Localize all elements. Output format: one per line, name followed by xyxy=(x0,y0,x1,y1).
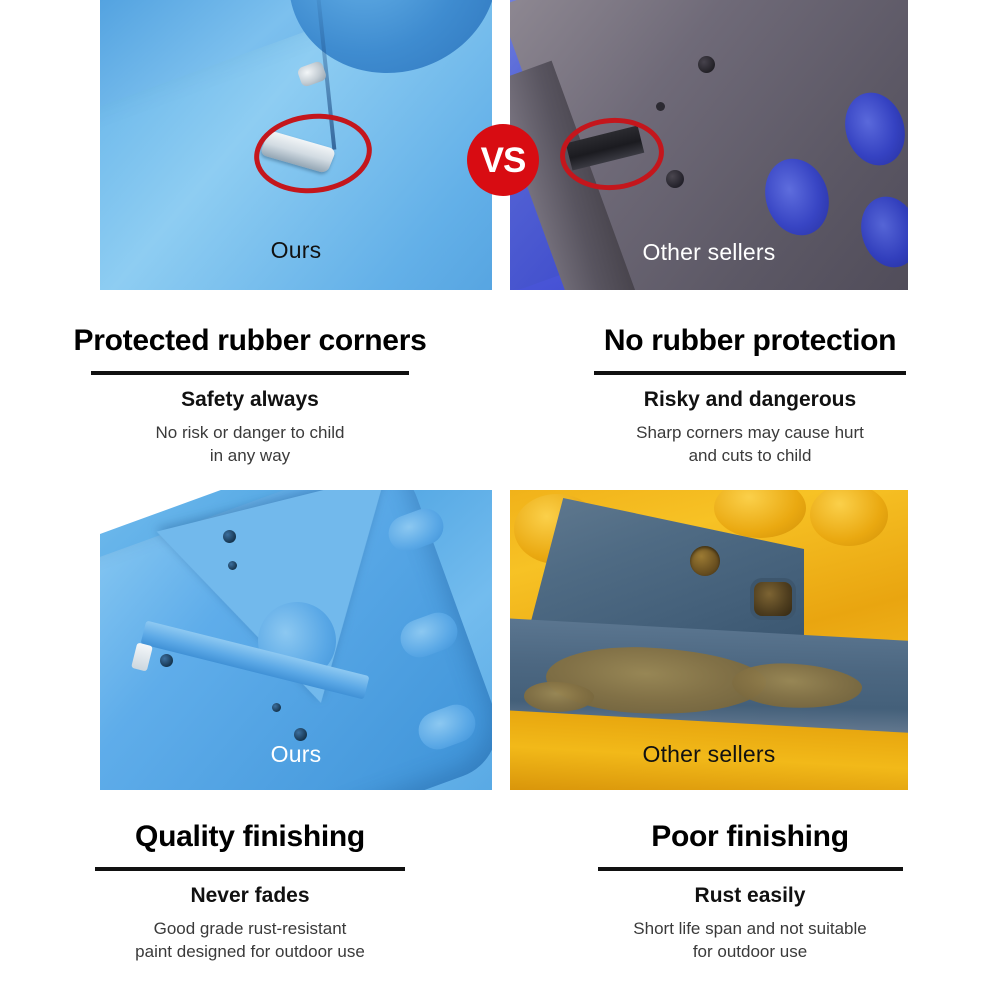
text-row-bottom: Quality finishing Never fades Good grade… xyxy=(0,790,1000,964)
text-row-top: Protected rubber corners Safety always N… xyxy=(0,290,1000,468)
hex-nut xyxy=(754,582,792,616)
headline-ours-top: Protected rubber corners xyxy=(24,324,476,359)
screw-head-d xyxy=(272,703,281,712)
body-line2-other-top: and cuts to child xyxy=(524,444,976,467)
text-col-ours-bottom: Quality finishing Never fades Good grade… xyxy=(0,820,500,964)
body-line1-ours-bottom: Good grade rust-resistant xyxy=(24,917,476,940)
rivet-pin xyxy=(656,102,665,111)
subhead-other-top: Risky and dangerous xyxy=(524,387,976,412)
vs-badge-top: VS xyxy=(467,124,539,196)
divider-rule xyxy=(91,371,409,375)
vs-badge-label: VS xyxy=(481,143,526,178)
headline-other-top: No rubber protection xyxy=(524,324,976,359)
body-line1-ours-top: No risk or danger to child xyxy=(24,421,476,444)
panel-label-other-sellers-top: Other sellers xyxy=(510,239,908,266)
screw-head-e xyxy=(294,728,307,741)
subhead-ours-top: Safety always xyxy=(24,387,476,412)
comparison-infographic: Ours Other sellers VS xyxy=(0,0,1000,1000)
comparison-block-finishing: Ours Other sellers VS xyxy=(0,490,1000,1000)
body-line1-other-top: Sharp corners may cause hurt xyxy=(524,421,976,444)
panel-label-other-sellers-bottom: Other sellers xyxy=(510,741,908,768)
subhead-ours-bottom: Never fades xyxy=(24,883,476,908)
subhead-other-bottom: Rust easily xyxy=(524,883,976,908)
photo-row-bottom: Ours Other sellers VS xyxy=(0,490,1000,790)
screw-head-b xyxy=(228,561,237,570)
headline-other-bottom: Poor finishing xyxy=(524,820,976,855)
screw-head-a xyxy=(223,530,236,543)
photo-ours-quality-finish: Ours xyxy=(100,490,492,790)
text-col-other-top: No rubber protection Risky and dangerous… xyxy=(500,324,1000,468)
bolt-head-a xyxy=(698,56,715,73)
divider-rule xyxy=(594,371,906,375)
headline-ours-bottom: Quality finishing xyxy=(24,820,476,855)
photo-other-poor-finish: Other sellers xyxy=(510,490,908,790)
divider-rule xyxy=(95,867,405,871)
photo-other-sharp-corner: Other sellers xyxy=(510,0,908,290)
bolt-head-b xyxy=(666,170,684,188)
screw-head-c xyxy=(160,654,173,667)
panel-label-ours-bottom: Ours xyxy=(100,741,492,768)
photo-row-top: Ours Other sellers VS xyxy=(0,0,1000,290)
photo-ours-rubber-corner: Ours xyxy=(100,0,492,290)
body-line2-other-bottom: for outdoor use xyxy=(524,940,976,963)
divider-rule xyxy=(598,867,903,871)
body-line1-other-bottom: Short life span and not suitable xyxy=(524,917,976,940)
comparison-block-rubber-corners: Ours Other sellers VS xyxy=(0,0,1000,490)
panel-label-ours-top: Ours xyxy=(100,237,492,264)
bracket-hole xyxy=(690,546,720,576)
body-line2-ours-bottom: paint designed for outdoor use xyxy=(24,940,476,963)
text-col-ours-top: Protected rubber corners Safety always N… xyxy=(0,324,500,468)
body-line2-ours-top: in any way xyxy=(24,444,476,467)
text-col-other-bottom: Poor finishing Rust easily Short life sp… xyxy=(500,820,1000,964)
